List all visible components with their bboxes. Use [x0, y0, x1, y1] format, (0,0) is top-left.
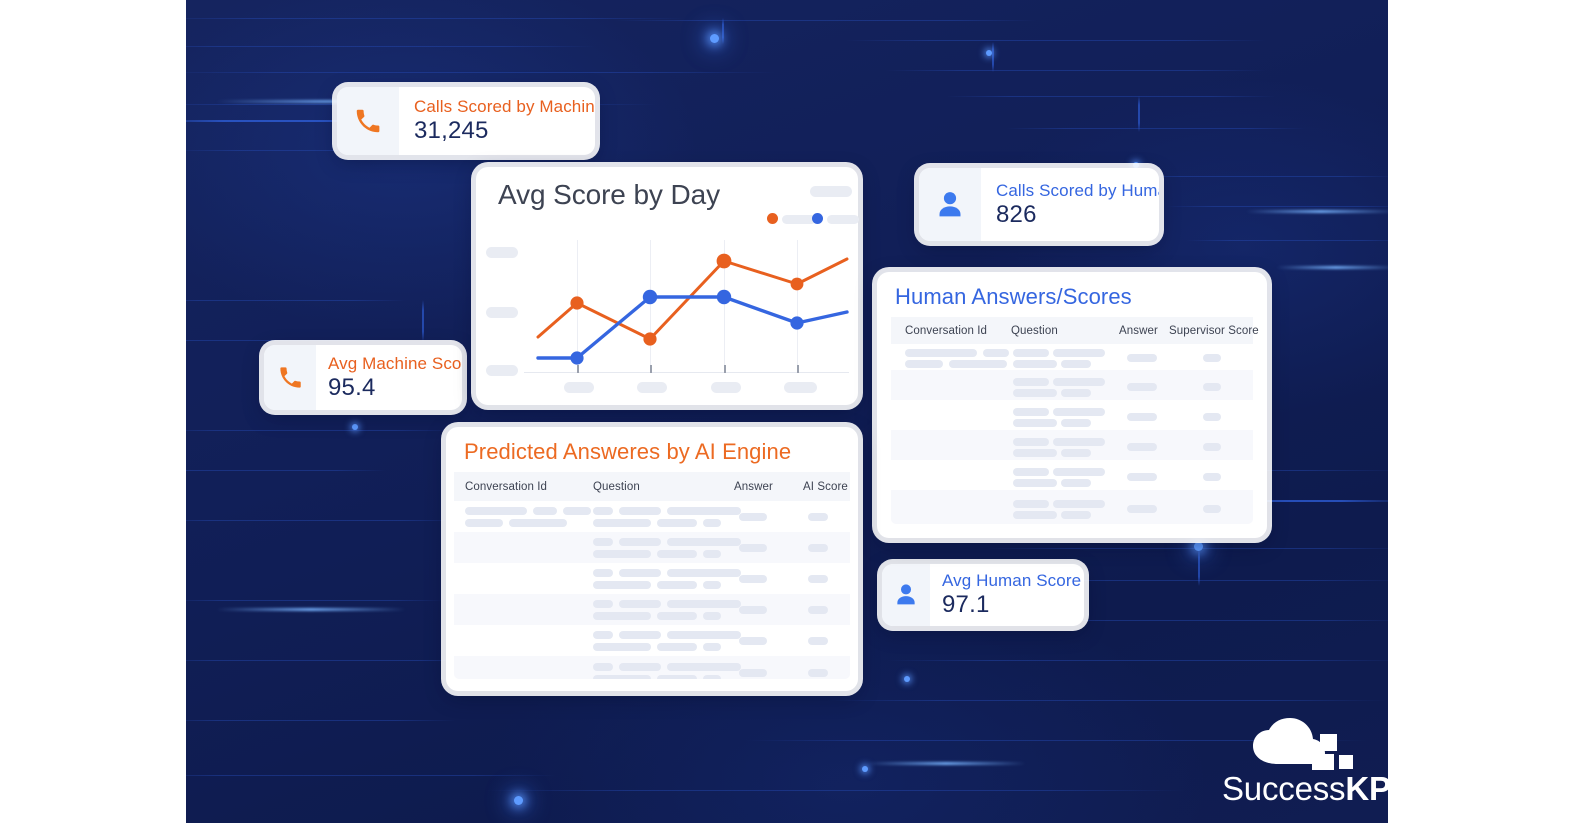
phone-icon: [277, 364, 304, 391]
series-point-human: [717, 290, 731, 304]
glow-accent: [1276, 266, 1388, 269]
kpi-value: 826: [996, 201, 1159, 229]
kpi-label: Avg Machine Score: [328, 354, 462, 374]
table-row[interactable]: [891, 370, 1253, 400]
chart-plot-area: [476, 167, 858, 405]
kpi-icon-wrap: [264, 345, 316, 410]
circuit-trace: [186, 340, 406, 341]
table-row[interactable]: [891, 490, 1253, 524]
kpi-body: Calls Scored by Human 826: [981, 168, 1159, 241]
circuit-trace: [1166, 206, 1388, 207]
circuit-trace: [946, 96, 1276, 97]
circuit-trace: [186, 600, 446, 601]
series-point-machine: [570, 296, 583, 309]
series-point-human: [790, 316, 803, 329]
series-point-human: [643, 290, 657, 304]
circuit-trace: [986, 548, 1388, 549]
series-point-human: [570, 351, 583, 364]
circuit-trace: [1186, 240, 1388, 241]
circuit-node: [1194, 542, 1203, 551]
kpi-body: Avg Human Score 97.1: [930, 564, 1084, 626]
table-row[interactable]: [454, 656, 850, 679]
circuit-trace-v: [1138, 96, 1140, 132]
table-row[interactable]: [454, 625, 850, 656]
table-header-row: Conversation Id Question Answer Supervis…: [891, 317, 1253, 344]
table-card-human-answers-scores[interactable]: Human Answers/Scores Conversation Id Que…: [877, 272, 1267, 538]
successkpi-logo: SuccessKPI: [1222, 718, 1388, 798]
logo-wordmark: SuccessKPI: [1222, 770, 1388, 808]
table-title: Human Answers/Scores: [895, 284, 1132, 310]
table-header-row: Conversation Id Question Answer AI Score: [454, 472, 850, 501]
glow-accent: [1246, 210, 1388, 213]
kpi-body: Avg Machine Score 95.4: [316, 345, 462, 410]
person-icon: [892, 581, 920, 609]
column-header-conversation-id: Conversation Id: [905, 325, 987, 337]
chart-card-avg-score-by-day[interactable]: Avg Score by Day: [476, 167, 858, 405]
kpi-label: Calls Scored by Machine: [414, 97, 595, 117]
kpi-card-avg-machine-score[interactable]: Avg Machine Score 95.4: [264, 345, 462, 410]
circuit-trace-v: [422, 300, 424, 342]
circuit-node: [904, 676, 910, 682]
circuit-trace: [486, 790, 1186, 791]
table-row[interactable]: [454, 594, 850, 625]
table-row[interactable]: [454, 532, 850, 563]
glow-accent: [216, 608, 406, 611]
circuit-trace: [616, 20, 1036, 21]
column-header-answer: Answer: [734, 481, 773, 493]
column-header-answer: Answer: [1119, 325, 1158, 337]
circuit-trace-v: [722, 18, 724, 44]
column-header-ai-score: AI Score: [803, 481, 848, 493]
circuit-trace: [186, 720, 456, 721]
kpi-card-calls-scored-by-human[interactable]: Calls Scored by Human 826: [919, 168, 1159, 241]
table-row[interactable]: [891, 460, 1253, 490]
person-icon: [933, 188, 967, 222]
phone-icon: [353, 106, 383, 136]
series-point-machine: [643, 332, 656, 345]
circuit-trace: [186, 46, 596, 47]
kpi-body: Calls Scored by Machine 31,245: [399, 87, 595, 155]
table-row[interactable]: [454, 501, 850, 532]
circuit-trace: [186, 430, 456, 431]
logo-kpi: KPI: [1345, 770, 1388, 807]
circuit-trace: [186, 660, 486, 661]
series-point-machine: [717, 254, 732, 269]
column-header-conversation-id: Conversation Id: [465, 481, 547, 493]
circuit-node: [352, 424, 358, 430]
column-header-supervisor-score: Supervisor Score: [1169, 325, 1259, 337]
kpi-card-avg-human-score[interactable]: Avg Human Score 97.1: [882, 564, 1084, 626]
kpi-value: 31,245: [414, 117, 595, 145]
circuit-trace: [186, 775, 556, 776]
circuit-node: [710, 34, 719, 43]
kpi-label: Avg Human Score: [942, 571, 1081, 591]
kpi-card-calls-scored-by-machine[interactable]: Calls Scored by Machine 31,245: [337, 87, 595, 155]
circuit-trace: [846, 40, 1266, 41]
circuit-trace: [186, 300, 406, 301]
table-row[interactable]: [454, 563, 850, 594]
table-row[interactable]: [891, 430, 1253, 460]
table-body: [891, 344, 1253, 524]
kpi-label: Calls Scored by Human: [996, 181, 1159, 201]
circuit-node: [986, 50, 992, 56]
cloud-squares-icon: [1240, 718, 1380, 770]
circuit-trace: [886, 70, 1266, 71]
circuit-trace: [186, 470, 386, 471]
table-row[interactable]: [891, 344, 1253, 370]
circuit-trace: [186, 520, 466, 521]
kpi-value: 95.4: [328, 374, 462, 402]
column-header-question: Question: [1011, 325, 1058, 337]
table-body: [454, 501, 850, 679]
circuit-trace: [1006, 128, 1306, 129]
kpi-icon-wrap: [337, 87, 399, 155]
kpi-value: 97.1: [942, 591, 1081, 619]
circuit-trace: [826, 700, 1386, 701]
table-card-predicted-answers-by-ai-engine[interactable]: Predicted Answeres by AI Engine Conversa…: [446, 427, 858, 691]
column-header-question: Question: [593, 481, 640, 493]
circuit-trace: [1126, 176, 1388, 177]
series-point-machine: [791, 278, 804, 291]
circuit-trace-v: [1198, 548, 1200, 586]
circuit-trace: [886, 660, 1388, 661]
logo-success: Success: [1222, 770, 1345, 807]
screenshot-root: SuccessKPI Calls Scored by Machine 31,24…: [0, 0, 1574, 823]
table-row[interactable]: [891, 400, 1253, 430]
table-title: Predicted Answeres by AI Engine: [464, 439, 791, 465]
circuit-trace: [186, 18, 686, 19]
kpi-icon-wrap: [919, 168, 981, 241]
glow-accent: [866, 762, 1026, 765]
circuit-node: [514, 796, 523, 805]
circuit-trace-v: [992, 42, 994, 72]
kpi-icon-wrap: [882, 564, 930, 626]
circuit-trace: [186, 72, 776, 73]
circuit-node: [862, 766, 868, 772]
